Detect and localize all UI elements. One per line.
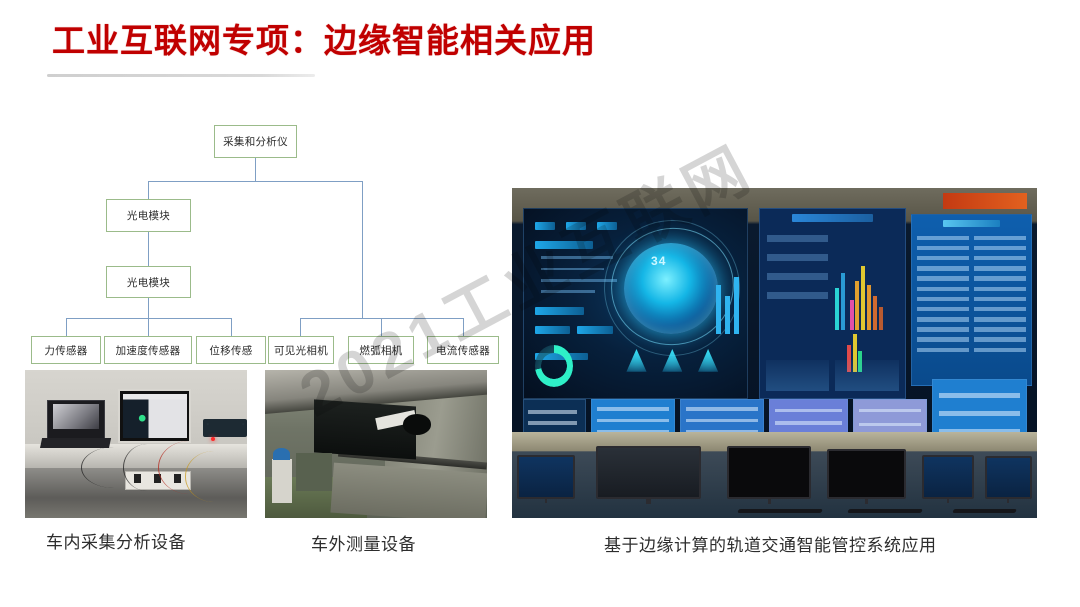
equipment-cabinet <box>296 453 332 491</box>
node-beacon-icon <box>626 349 646 372</box>
connector-leaf2 <box>148 318 149 336</box>
screen-row <box>775 409 843 413</box>
connector-leaf6 <box>463 318 464 336</box>
desk-monitor <box>985 456 1032 499</box>
table-row <box>974 276 1026 280</box>
photo-outside-vehicle <box>265 370 487 518</box>
slide-root: 工业互联网专项：边缘智能相关应用 采集和分析仪 光电模块 光电模块 力传感器 加… <box>0 0 1080 607</box>
line-chart-area <box>835 360 899 390</box>
caption-outside-vehicle: 车外测量设备 <box>311 530 416 555</box>
table-row <box>974 236 1026 240</box>
monitor-device <box>118 389 191 442</box>
screen-row <box>686 419 758 423</box>
node-root[interactable]: 采集和分析仪 <box>214 125 297 158</box>
table-row <box>974 266 1026 270</box>
table-row <box>974 256 1026 260</box>
table-row <box>917 246 969 250</box>
connector-to-right-group <box>362 181 363 318</box>
connector-leaf5 <box>381 318 382 336</box>
node-module-1[interactable]: 光电模块 <box>106 199 191 232</box>
sensor-architecture-diagram: 采集和分析仪 光电模块 光电模块 力传感器 加速度传感器 位移传感 可见光相机 … <box>0 0 520 380</box>
bar <box>879 307 883 330</box>
node-acceleration-sensor[interactable]: 加速度传感器 <box>104 336 192 364</box>
desk-monitor <box>827 449 906 499</box>
table-row <box>974 337 1026 341</box>
table-row <box>917 236 969 240</box>
table-row <box>917 327 969 331</box>
data-table-screen <box>911 214 1032 386</box>
keyboard <box>952 509 1017 513</box>
donut-gauge-chart <box>535 345 573 387</box>
bar <box>841 273 845 330</box>
operator-desk <box>512 432 1037 518</box>
mini-bar <box>734 277 739 334</box>
desk-monitor <box>596 446 701 499</box>
node-arc-camera[interactable]: 燃弧相机 <box>348 336 414 364</box>
screen-row <box>859 423 922 427</box>
data-row <box>767 254 828 261</box>
connector-to-module1 <box>148 181 149 200</box>
table-row <box>974 348 1026 352</box>
table-row <box>974 287 1026 291</box>
globe-visualization <box>624 243 718 334</box>
measurement-device-body <box>314 399 416 459</box>
screen-row <box>775 421 843 425</box>
screen-row <box>939 411 1020 416</box>
dashboard-kpi-chip <box>577 326 613 334</box>
table-row <box>917 256 969 260</box>
table-row <box>917 287 969 291</box>
desk-monitor <box>517 455 575 500</box>
table-title-bar <box>943 220 1000 227</box>
caption-control-room: 基于边缘计算的轨道交通智能管控系统应用 <box>604 531 937 556</box>
connector-leaf4 <box>300 318 301 336</box>
bar <box>861 266 865 330</box>
screen-row <box>528 410 577 414</box>
screen-row <box>939 393 1020 398</box>
connector-leaf1 <box>66 318 67 336</box>
router-antenna-icon <box>242 423 244 425</box>
dashboard-textline <box>541 256 613 259</box>
bar <box>850 300 854 330</box>
laptop-device <box>47 400 105 440</box>
connector-root-down <box>255 158 256 181</box>
mini-bar <box>716 285 721 334</box>
main-dashboard-screen: 34 <box>523 208 749 399</box>
keyboard <box>737 509 823 513</box>
dashboard-kpi-chip <box>535 326 571 334</box>
dashboard-textline <box>541 290 595 293</box>
table-row <box>917 307 969 311</box>
table-row <box>917 337 969 341</box>
table-row <box>974 307 1026 311</box>
data-row <box>767 235 828 242</box>
desk-monitor <box>727 446 811 499</box>
router-antenna-icon <box>207 423 209 425</box>
mini-bar <box>725 296 730 334</box>
connector-module2-down <box>148 298 149 318</box>
connector-root-span <box>148 181 363 182</box>
photo-control-room: 34 <box>512 188 1037 518</box>
table-row <box>974 317 1026 321</box>
bar <box>855 281 859 330</box>
node-displacement-sensor[interactable]: 位移传感 <box>196 336 266 364</box>
node-force-sensor[interactable]: 力传感器 <box>31 336 101 364</box>
caption-in-vehicle: 车内采集分析设备 <box>46 528 186 553</box>
screen-row <box>859 409 922 413</box>
bar <box>867 285 871 330</box>
node-current-sensor[interactable]: 电流传感器 <box>427 336 499 364</box>
keyboard <box>847 509 922 513</box>
table-row <box>974 246 1026 250</box>
node-beacon-icon <box>698 349 718 372</box>
screen-row <box>597 407 669 411</box>
table-row <box>974 297 1026 301</box>
charts-title-bar <box>792 214 873 222</box>
node-module-2[interactable]: 光电模块 <box>106 266 191 298</box>
data-row <box>767 292 828 299</box>
charts-screen <box>759 208 906 399</box>
table-row <box>917 317 969 321</box>
screen-row <box>528 421 577 425</box>
table-row <box>917 266 969 270</box>
globe-value-label: 34 <box>651 254 666 268</box>
screen-row <box>597 419 669 423</box>
router-device <box>203 419 247 437</box>
dashboard-chip <box>597 222 617 230</box>
dashboard-textline <box>541 268 604 271</box>
connector-leaf3 <box>231 318 232 336</box>
bar <box>873 296 877 330</box>
laptop-base <box>39 438 110 448</box>
red-led-banner <box>943 193 1027 210</box>
data-row <box>767 273 828 280</box>
bar <box>835 288 839 330</box>
dashboard-header-bar <box>535 241 593 249</box>
desk-monitor <box>922 455 975 500</box>
dashboard-chip <box>535 222 555 230</box>
table-row <box>917 276 969 280</box>
connector-module1-module2 <box>148 232 149 266</box>
line-chart-area <box>766 360 830 390</box>
screen-row <box>686 407 758 411</box>
worker-figure <box>272 459 292 503</box>
dashboard-header-bar <box>535 307 584 315</box>
cable <box>185 451 243 501</box>
photo-in-vehicle <box>25 370 247 518</box>
table-row <box>917 348 969 352</box>
table-row <box>917 297 969 301</box>
node-visible-light-camera[interactable]: 可见光相机 <box>268 336 334 364</box>
dashboard-chip <box>566 222 586 230</box>
table-row <box>974 327 1026 331</box>
